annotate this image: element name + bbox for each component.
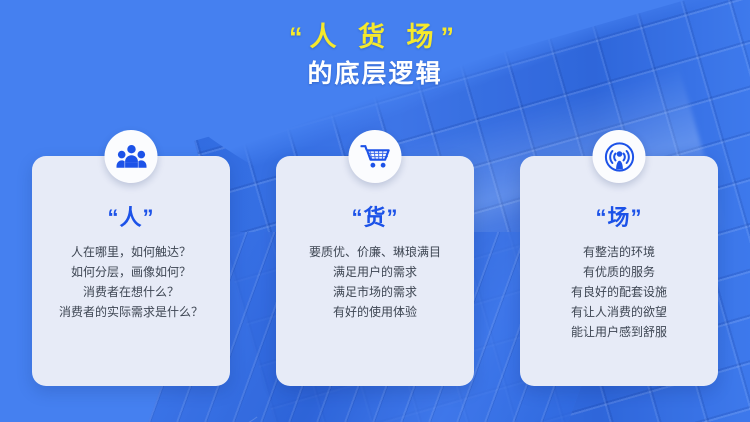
card-line: 有整洁的环境 bbox=[528, 242, 710, 262]
card-body-ren: 人在哪里，如何触达？ 如何分层，画像如何？ 消费者在想什么？ 消费者的实际需求是… bbox=[40, 242, 222, 322]
card-line: 人在哪里，如何触达？ bbox=[40, 242, 222, 262]
card-title-ren: “人” bbox=[32, 200, 230, 232]
card-title-chang: “场” bbox=[520, 200, 718, 232]
card-huo[interactable]: “货” 要质优、价廉、琳琅满目 满足用户的需求 满足市场的需求 有好的使用体验 bbox=[276, 156, 474, 386]
card-line: 有优质的服务 bbox=[528, 262, 710, 282]
card-line: 满足市场的需求 bbox=[284, 282, 466, 302]
card-line: 有让人消费的欲望 bbox=[528, 302, 710, 322]
page-title: “人 货 场” bbox=[0, 20, 750, 54]
card-line: 消费者在想什么？ bbox=[40, 282, 222, 302]
card-line: 能让用户感到舒服 bbox=[528, 322, 710, 342]
card-body-huo: 要质优、价廉、琳琅满目 满足用户的需求 满足市场的需求 有好的使用体验 bbox=[284, 242, 466, 322]
card-line: 有良好的配套设施 bbox=[528, 282, 710, 302]
card-line: 要质优、价廉、琳琅满目 bbox=[284, 242, 466, 262]
card-line: 消费者的实际需求是什么？ bbox=[40, 302, 222, 322]
card-body-chang: 有整洁的环境 有优质的服务 有良好的配套设施 有让人消费的欲望 能让用户感到舒服 bbox=[528, 242, 710, 342]
card-line: 如何分层，画像如何？ bbox=[40, 262, 222, 282]
shopping-cart-icon bbox=[349, 130, 402, 183]
card-line: 满足用户的需求 bbox=[284, 262, 466, 282]
slide-canvas: “人 货 场” 的底层逻辑 “人” 人在哪里，如何触达？ 如何分层，画像如 bbox=[0, 0, 750, 422]
broadcast-person-icon bbox=[593, 130, 646, 183]
page-subtitle: 的底层逻辑 bbox=[0, 57, 750, 91]
card-title-huo: “货” bbox=[276, 200, 474, 232]
card-row: “人” 人在哪里，如何触达？ 如何分层，画像如何？ 消费者在想什么？ 消费者的实… bbox=[32, 156, 718, 386]
card-chang[interactable]: “场” 有整洁的环境 有优质的服务 有良好的配套设施 有让人消费的欲望 能让用户… bbox=[520, 156, 718, 386]
title-block: “人 货 场” 的底层逻辑 bbox=[0, 20, 750, 91]
people-group-icon bbox=[105, 130, 158, 183]
card-line: 有好的使用体验 bbox=[284, 302, 466, 322]
card-ren[interactable]: “人” 人在哪里，如何触达？ 如何分层，画像如何？ 消费者在想什么？ 消费者的实… bbox=[32, 156, 230, 386]
